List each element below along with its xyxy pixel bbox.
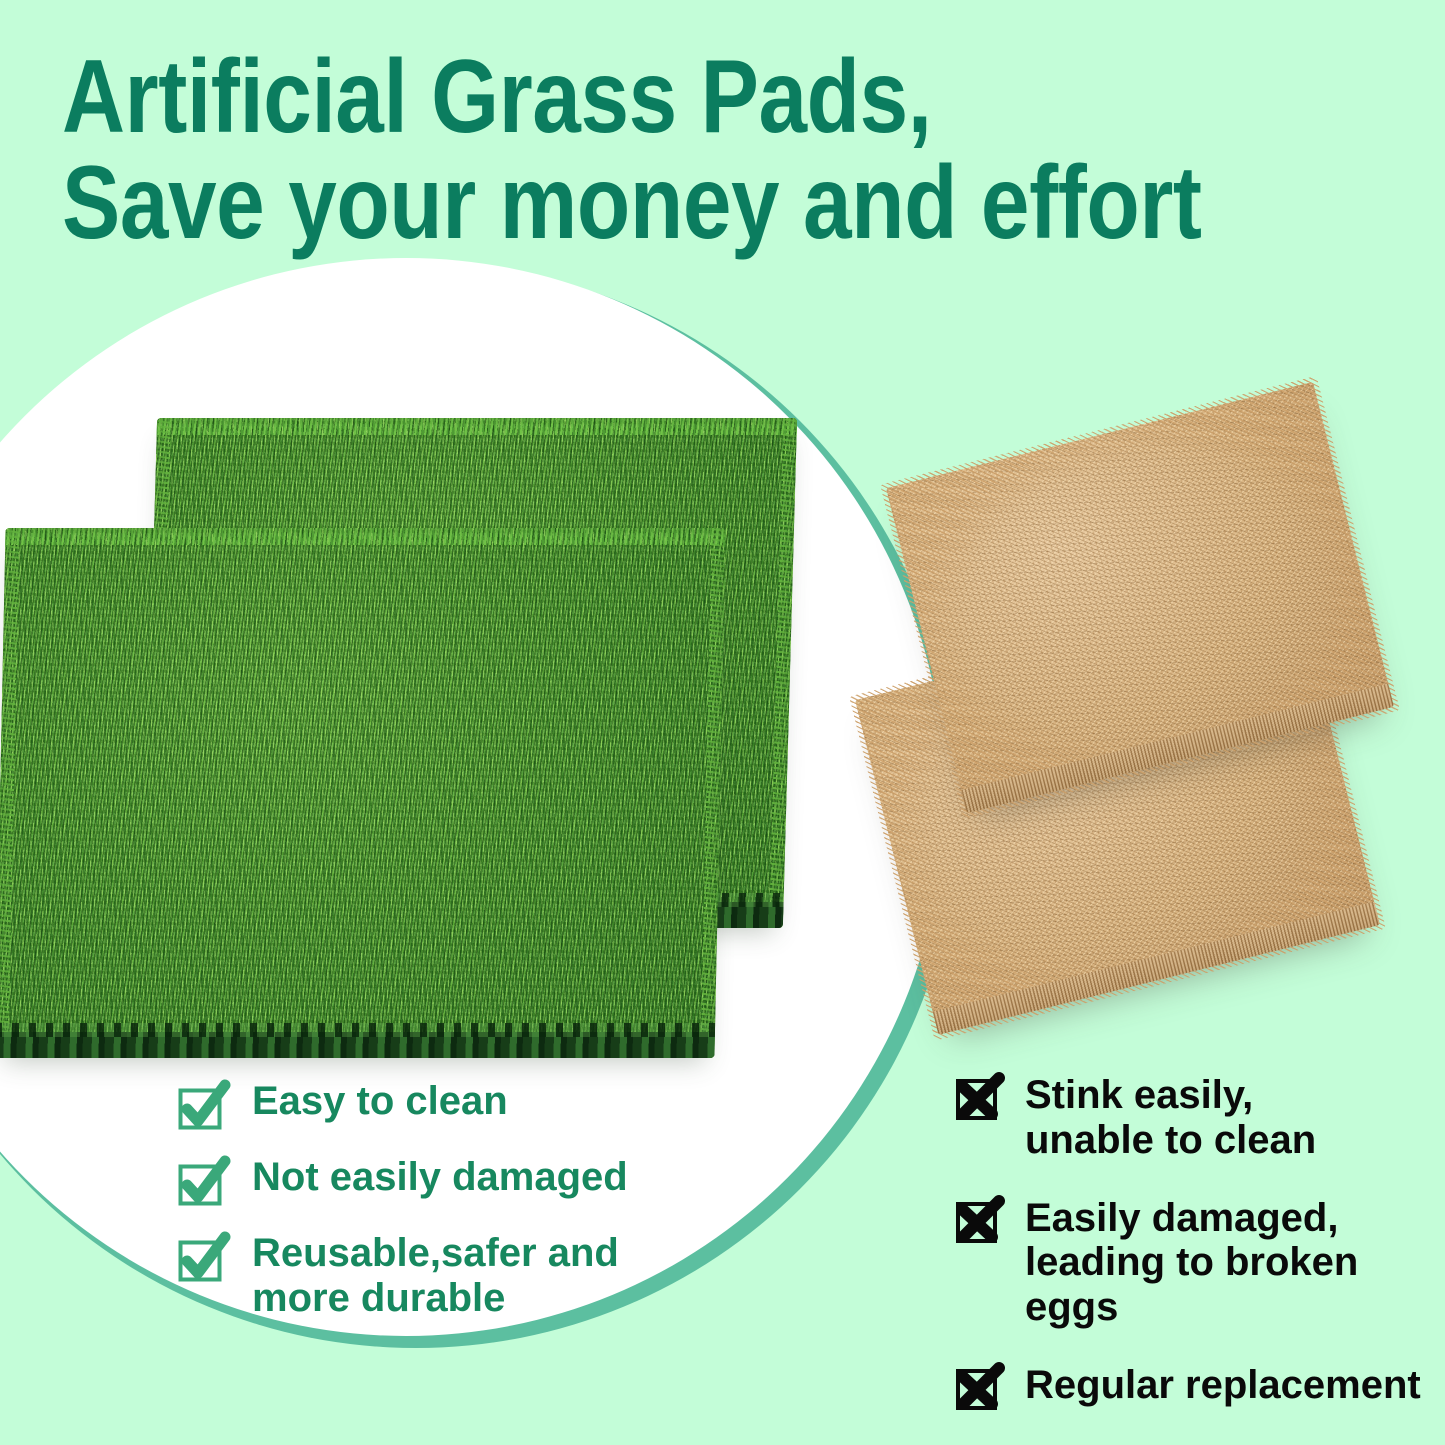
list-item: Easily damaged, leading to broken eggs — [955, 1195, 1435, 1330]
x-box-icon — [955, 1364, 1003, 1412]
turf-texture — [0, 528, 726, 1058]
coir-pad-edge — [933, 902, 1380, 1035]
list-item: Stink easily, unable to clean — [955, 1072, 1435, 1163]
cons-list: Stink easily, unable to clean Easily dam… — [955, 1072, 1435, 1444]
grass-mat-backing-edge — [0, 1032, 715, 1058]
list-item: Easy to clean — [178, 1078, 698, 1130]
page-title: Artificial Grass Pads, Save your money a… — [62, 44, 1402, 256]
list-item: Regular replacement — [955, 1362, 1435, 1412]
check-box-icon — [178, 1158, 226, 1206]
grass-mat-front — [0, 528, 726, 1058]
x-box-icon — [955, 1074, 1003, 1122]
check-box-icon — [178, 1234, 226, 1282]
list-item-label: Easy to clean — [252, 1078, 508, 1124]
check-box-icon — [178, 1082, 226, 1130]
x-box-icon — [955, 1197, 1003, 1245]
title-line-1: Artificial Grass Pads, — [62, 44, 1188, 150]
list-item-label: Regular replacement — [1025, 1362, 1421, 1408]
list-item-label: Not easily damaged — [252, 1154, 628, 1200]
coir-pads-product-image — [880, 410, 1440, 1050]
pros-list: Easy to clean Not easily damaged Reusabl… — [178, 1078, 698, 1345]
list-item: Reusable,safer and more durable — [178, 1230, 698, 1321]
product-comparison-poster: Artificial Grass Pads, Save your money a… — [0, 0, 1445, 1445]
artificial-grass-product-image — [0, 418, 800, 1058]
list-item: Not easily damaged — [178, 1154, 698, 1206]
title-line-2: Save your money and effort — [62, 150, 1188, 256]
list-item-label: Easily damaged, leading to broken eggs — [1025, 1195, 1435, 1330]
list-item-label: Reusable,safer and more durable — [252, 1230, 619, 1321]
list-item-label: Stink easily, unable to clean — [1025, 1072, 1316, 1163]
